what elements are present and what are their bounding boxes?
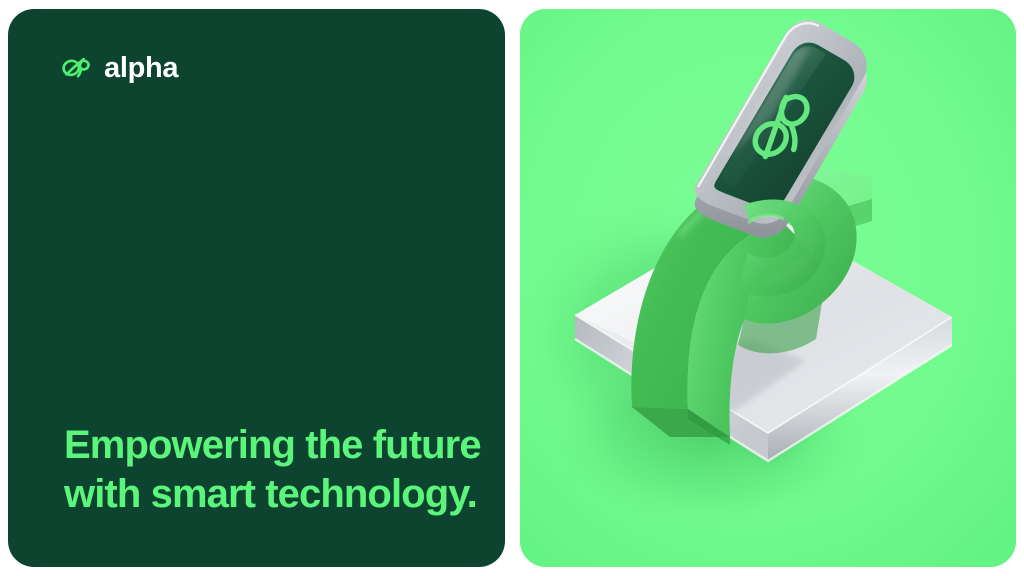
right-panel xyxy=(520,9,1016,567)
product-photo-smartwatch-on-stand xyxy=(520,9,1016,567)
page-headline: Empowering the future with smart technol… xyxy=(64,421,484,519)
brand-lockup: alpha xyxy=(60,47,178,89)
brand-name: alpha xyxy=(104,54,178,83)
alpha-loop-logo-icon xyxy=(60,51,94,85)
left-panel: alpha Empowering the future with smart t… xyxy=(8,9,505,567)
banner-stage: alpha Empowering the future with smart t… xyxy=(0,0,1024,576)
